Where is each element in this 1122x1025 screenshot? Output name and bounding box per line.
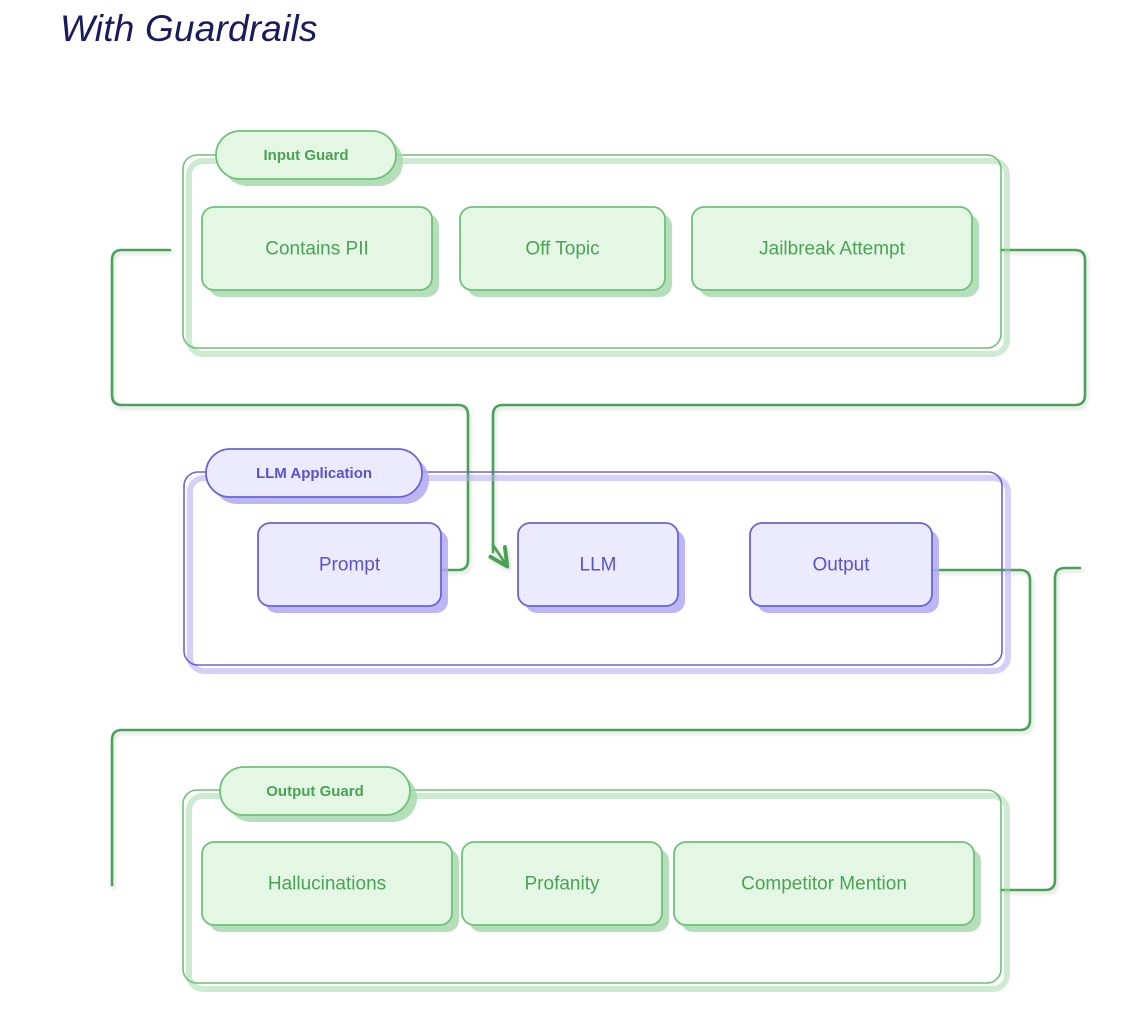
group-pill-input-guard[interactable]: Input Guard bbox=[216, 131, 403, 186]
node-llm[interactable]: LLM bbox=[518, 523, 685, 613]
connector-output-to-output-guard bbox=[112, 570, 1030, 885]
node-label: Output bbox=[812, 555, 870, 576]
group-llm-application: PromptLLMOutputLLM Application bbox=[184, 449, 1008, 671]
node-label: Competitor Mention bbox=[741, 874, 907, 895]
node-output[interactable]: Output bbox=[750, 523, 939, 613]
node-label: LLM bbox=[580, 555, 617, 576]
connector-prompt-to-input-guard bbox=[112, 250, 468, 570]
node-label: Hallucinations bbox=[268, 874, 386, 895]
node-label: Contains PII bbox=[265, 239, 369, 260]
group-pill-llm-application[interactable]: LLM Application bbox=[206, 449, 429, 504]
node-hallucinations[interactable]: Hallucinations bbox=[202, 842, 459, 932]
group-pill-output-guard[interactable]: Output Guard bbox=[220, 767, 417, 822]
node-label: Off Topic bbox=[525, 239, 599, 260]
group-input-guard: Contains PIIOff TopicJailbreak AttemptIn… bbox=[183, 131, 1007, 354]
node-contains-pii[interactable]: Contains PII bbox=[202, 207, 439, 297]
node-label: Prompt bbox=[319, 555, 381, 576]
groups-layer: Contains PIIOff TopicJailbreak AttemptIn… bbox=[183, 131, 1008, 989]
node-prompt[interactable]: Prompt bbox=[258, 523, 448, 613]
node-jailbreak-attempt[interactable]: Jailbreak Attempt bbox=[692, 207, 979, 297]
node-off-topic[interactable]: Off Topic bbox=[460, 207, 672, 297]
connector-input-guard-to-llm-arrowhead bbox=[493, 545, 507, 566]
node-label: Profanity bbox=[525, 874, 600, 895]
node-profanity[interactable]: Profanity bbox=[462, 842, 669, 932]
group-output-guard: HallucinationsProfanityCompetitor Mentio… bbox=[183, 767, 1007, 989]
group-pill-label: Output Guard bbox=[266, 783, 364, 800]
group-pill-label: LLM Application bbox=[256, 465, 372, 482]
group-pill-label: Input Guard bbox=[264, 147, 349, 164]
diagram-canvas: Contains PIIOff TopicJailbreak AttemptIn… bbox=[0, 0, 1122, 1025]
node-label: Jailbreak Attempt bbox=[759, 239, 905, 260]
guardrails-diagram: With Guardrails Contains PIIOff TopicJai… bbox=[0, 0, 1122, 1025]
node-competitor-mention[interactable]: Competitor Mention bbox=[674, 842, 981, 932]
